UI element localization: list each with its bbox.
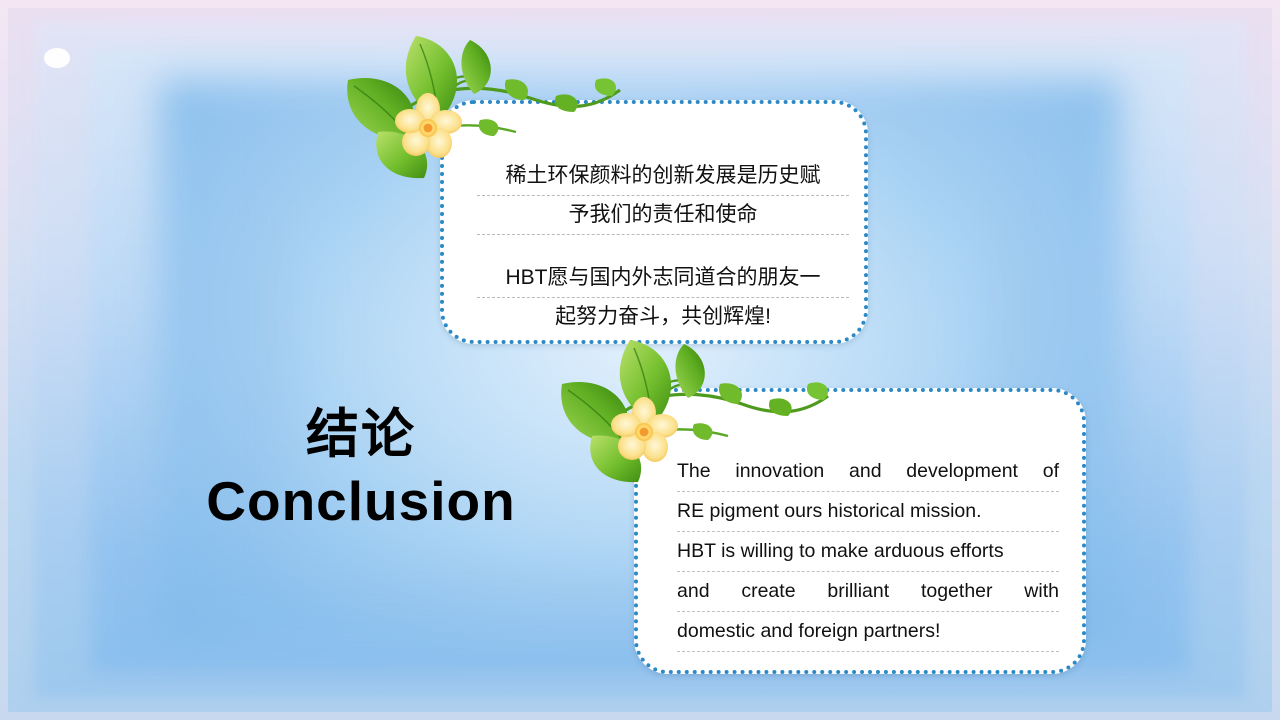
english-line-1: The innovation and development of [677, 452, 1059, 492]
english-line-5: domestic and foreign partners! [677, 612, 1059, 652]
english-text-callout: The innovation and development of RE pig… [634, 388, 1086, 674]
english-line-4: and create brilliant together with [677, 572, 1059, 612]
chinese-p1-line-2: 予我们的责任和使命 [477, 196, 849, 235]
english-text-content: The innovation and development of RE pig… [677, 452, 1059, 652]
chinese-callout-inner: 稀土环保颜料的创新发展是历史赋 予我们的责任和使命 HBT愿与国内外志同道合的朋… [449, 109, 859, 335]
chinese-text-content: 稀土环保颜料的创新发展是历史赋 予我们的责任和使命 HBT愿与国内外志同道合的朋… [477, 157, 849, 335]
chinese-p1-line-1: 稀土环保颜料的创新发展是历史赋 [477, 157, 849, 196]
presentation-slide: 稀土环保颜料的创新发展是历史赋 予我们的责任和使命 HBT愿与国内外志同道合的朋… [0, 0, 1280, 720]
title-chinese: 结论 [196, 404, 526, 466]
slide-title-block: 结论 Conclusion [196, 404, 526, 536]
english-line-2: RE pigment ours historical mission. [677, 492, 1059, 532]
title-english: Conclusion [196, 466, 526, 536]
english-line-3: HBT is willing to make arduous efforts [677, 532, 1059, 572]
chinese-paragraph-2: HBT愿与国内外志同道合的朋友一 起努力奋斗，共创辉煌! [477, 259, 849, 335]
white-dot-decoration [44, 48, 70, 68]
chinese-p2-line-1: HBT愿与国内外志同道合的朋友一 [477, 259, 849, 298]
chinese-p2-line-2: 起努力奋斗，共创辉煌! [477, 298, 849, 335]
chinese-text-callout: 稀土环保颜料的创新发展是历史赋 予我们的责任和使命 HBT愿与国内外志同道合的朋… [440, 100, 868, 344]
chinese-paragraph-1: 稀土环保颜料的创新发展是历史赋 予我们的责任和使命 [477, 157, 849, 235]
english-callout-inner: The innovation and development of RE pig… [643, 397, 1077, 665]
